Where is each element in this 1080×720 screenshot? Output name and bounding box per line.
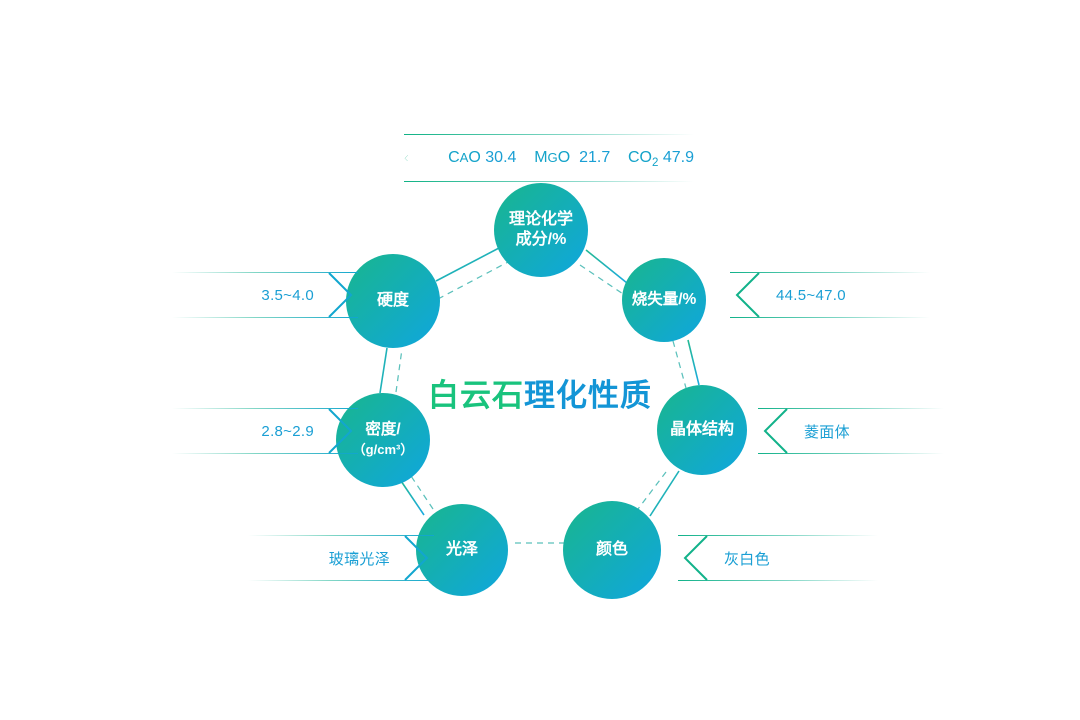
banner-composition-text: CAO 30.4 MGO 21.7 CO2 47.9: [408, 149, 694, 167]
chevron-icon: [328, 272, 358, 318]
center-title-green: 白云石: [428, 378, 524, 413]
banner-rule-top: [678, 535, 878, 536]
chevron-icon: [404, 535, 434, 581]
chevron-icon: [758, 408, 788, 454]
node-composition[interactable]: 理论化学 成分/%: [494, 183, 588, 277]
chevron-icon: [328, 408, 358, 454]
connector-lines: [0, 0, 1080, 720]
chevron-icon: [678, 535, 708, 581]
node-loss-on-ignition-label: 烧失量/%: [626, 290, 703, 310]
center-title-blue: 理化性质: [524, 378, 652, 413]
node-density-line2: （g/cm³）: [353, 442, 414, 457]
banner-rule-top: [404, 134, 694, 135]
node-color-label: 颜色: [590, 540, 634, 560]
banner-rule-bottom: [404, 181, 694, 182]
banner-crystal-structure[interactable]: 菱面体: [758, 408, 944, 454]
node-density-line1: 密度/: [365, 421, 400, 438]
banner-hardness[interactable]: 3.5~4.0: [172, 272, 358, 318]
banner-luster[interactable]: 玻璃光泽: [248, 535, 434, 581]
banner-loss-on-ignition[interactable]: 44.5~47.0: [730, 272, 930, 318]
banner-rule-bottom: [678, 580, 878, 581]
node-composition-line2: 成分/%: [516, 231, 567, 248]
node-crystal-structure-label: 晶体结构: [664, 420, 740, 440]
chevron-icon: [730, 272, 760, 318]
banner-rule-top: [730, 272, 930, 273]
node-composition-line1: 理论化学: [509, 211, 573, 228]
banner-density[interactable]: 2.8~2.9: [172, 408, 358, 454]
banner-color[interactable]: 灰白色: [678, 535, 878, 581]
node-loss-on-ignition[interactable]: 烧失量/%: [622, 258, 706, 342]
node-hardness-label: 硬度: [371, 291, 415, 311]
node-hardness[interactable]: 硬度: [346, 254, 440, 348]
node-color[interactable]: 颜色: [563, 501, 661, 599]
node-luster-label: 光泽: [440, 540, 484, 560]
banner-composition[interactable]: CAO 30.4 MGO 21.7 CO2 47.9: [404, 134, 694, 182]
banner-rule-bottom: [730, 317, 930, 318]
infographic-canvas: 理论化学 成分/% 烧失量/% 晶体结构 颜色 光泽 密度/ （g/cm³） 硬…: [0, 0, 1080, 720]
